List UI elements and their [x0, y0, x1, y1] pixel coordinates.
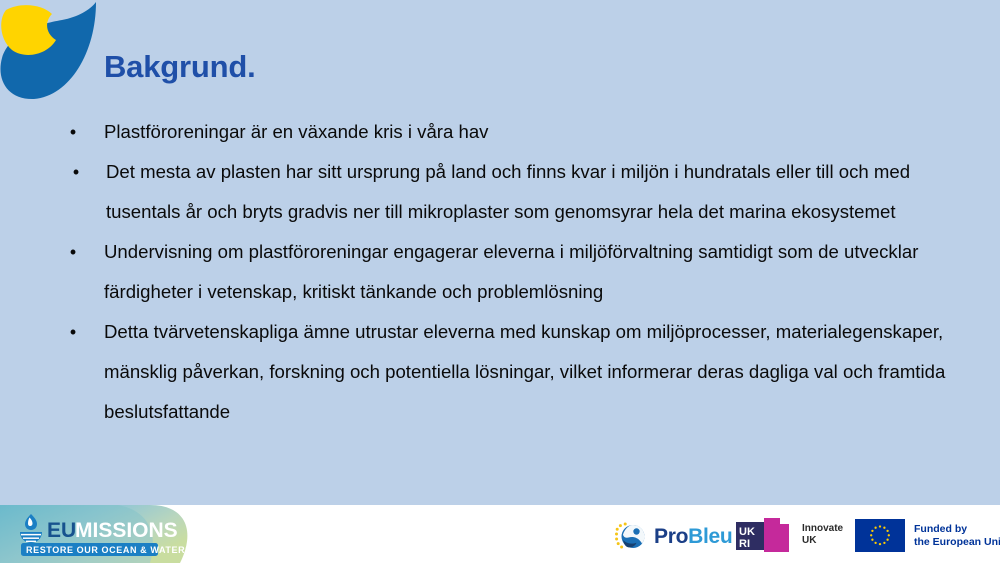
list-item: • Det mesta av plasten har sitt ursprung… — [58, 152, 978, 232]
innovate-uk-line1: Innovate — [802, 523, 843, 535]
list-item-text: Undervisning om plastföroreningar engage… — [104, 232, 978, 312]
eu-missions-tagline: RESTORE OUR OCEAN & WATERS — [26, 545, 192, 555]
bullet-marker: • — [67, 312, 79, 352]
brand-leaf-logo — [0, 0, 96, 100]
ukri-mark: UK RI — [736, 518, 794, 552]
list-item-text: Detta tvärvetenskapliga ämne utrustar el… — [104, 312, 978, 432]
probleu-pro-text: Pro — [654, 525, 688, 548]
probleu-wordmark: ProBleu — [654, 525, 732, 549]
svg-text:UK: UK — [739, 526, 755, 538]
bullet-list: • Plastföroreningar är en växande kris i… — [58, 112, 978, 432]
list-item: • Detta tvärvetenskapliga ämne utrustar … — [58, 312, 978, 432]
ukri-innovate-uk-logo: UK RI Innovate UK — [736, 518, 843, 552]
bullet-marker: • — [70, 152, 82, 192]
innovate-uk-text: Innovate UK — [802, 523, 843, 547]
eu-funded-line2: the European Union — [914, 536, 1000, 549]
innovate-uk-line2: UK — [802, 535, 843, 547]
page-title: Bakgrund. — [104, 49, 256, 85]
footer: EU MISSIONS RESTORE OUR OCEAN & WATERS — [0, 505, 1000, 563]
eu-funded-line1: Funded by — [914, 523, 1000, 536]
eu-missions-logo: EU MISSIONS RESTORE OUR OCEAN & WATERS — [0, 505, 215, 563]
eu-missions-eu-word: EU — [47, 519, 76, 542]
eu-funded-text: Funded by the European Union — [914, 523, 1000, 549]
probleu-swirl-icon — [612, 521, 648, 553]
list-item: • Undervisning om plastföroreningar enga… — [58, 232, 978, 312]
list-item: • Plastföroreningar är en växande kris i… — [58, 112, 978, 152]
list-item-text: Det mesta av plasten har sitt ursprung p… — [106, 152, 978, 232]
svg-text:RI: RI — [739, 538, 750, 550]
probleu-bleu-text: Bleu — [688, 525, 732, 548]
list-item-text: Plastföroreningar är en växande kris i v… — [104, 112, 978, 152]
eu-missions-missions-word: MISSIONS — [75, 519, 178, 542]
eu-funded-logo: Funded by the European Union — [855, 519, 1000, 552]
bullet-marker: • — [67, 112, 79, 152]
eu-flag-icon — [855, 519, 905, 552]
slide: Bakgrund. • Plastföroreningar är en växa… — [0, 0, 1000, 563]
probleu-logo: ProBleu — [612, 522, 732, 552]
bullet-marker: • — [67, 232, 79, 272]
